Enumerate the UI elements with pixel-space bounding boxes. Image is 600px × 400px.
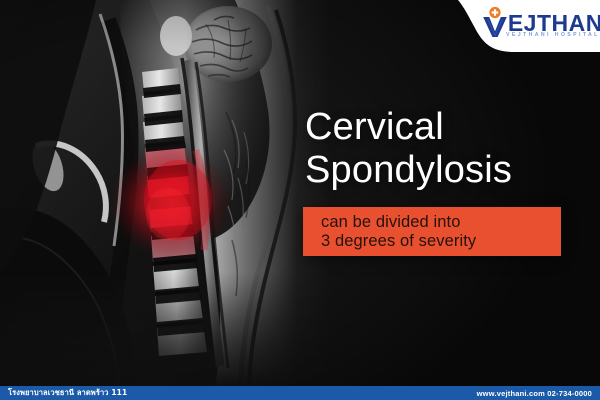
- vejthani-cervical-spondylosis-banner: VEJTHANI Vejthani Hospital Cervical Spon…: [0, 0, 600, 400]
- callout-line-2: 3 degrees of severity: [321, 232, 561, 251]
- footer-bar: โรงพยาบาลเวชธานี ลาดพร้าว 111 www.vejtha…: [0, 386, 600, 400]
- vejthani-logo[interactable]: VEJTHANI Vejthani Hospital: [480, 4, 588, 42]
- cervical-spine-mri-graphic: [0, 0, 330, 388]
- logo-tagline: Vejthani Hospital: [506, 32, 600, 38]
- severity-callout: can be divided into 3 degrees of severit…: [303, 207, 561, 256]
- page-title: Cervical Spondylosis: [305, 106, 590, 191]
- footer-hospital-name: โรงพยาบาลเวชธานี ลาดพร้าว 111: [8, 387, 127, 399]
- title-line-2: Spondylosis: [305, 149, 590, 192]
- mri-image: [0, 0, 330, 388]
- title-line-1: Cervical: [305, 106, 444, 148]
- footer-contact[interactable]: www.vejthani.com 02-734-0000: [477, 389, 592, 398]
- callout-line-1: can be divided into: [321, 213, 561, 232]
